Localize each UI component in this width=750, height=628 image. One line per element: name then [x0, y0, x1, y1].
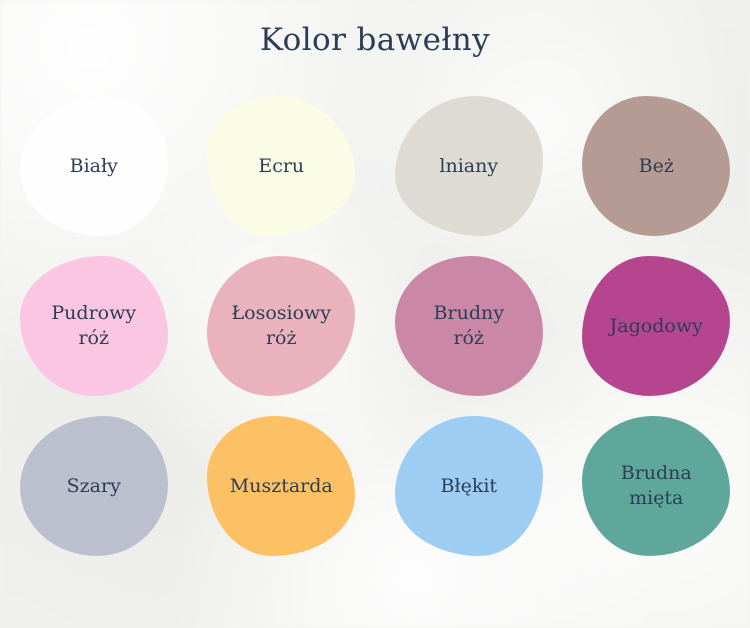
color-blob: Musztarda: [207, 416, 355, 556]
swatch-lososiowy-roz[interactable]: Łososiowy róż: [188, 246, 376, 406]
swatch-label: Musztarda: [224, 474, 339, 499]
color-blob: Beż: [582, 96, 730, 236]
color-blob: Biały: [20, 96, 168, 236]
swatch-label: Brudny róż: [428, 301, 510, 350]
swatch-label: Pudrowy róż: [45, 301, 142, 350]
page-title: Kolor bawełny: [0, 22, 750, 58]
color-blob: Brudna mięta: [582, 416, 730, 556]
swatch-lniany[interactable]: lniany: [375, 86, 563, 246]
color-blob: Łososiowy róż: [207, 256, 355, 396]
color-blob: Szary: [20, 416, 168, 556]
color-blob: Brudny róż: [395, 256, 543, 396]
swatch-bialy[interactable]: Biały: [0, 86, 188, 246]
swatch-label: Łososiowy róż: [225, 301, 337, 350]
swatch-brudny-roz[interactable]: Brudny róż: [375, 246, 563, 406]
swatch-label: lniany: [433, 154, 504, 179]
swatch-label: Beż: [633, 154, 680, 179]
swatch-pudrowy-roz[interactable]: Pudrowy róż: [0, 246, 188, 406]
color-blob: lniany: [395, 96, 543, 236]
swatch-label: Błękit: [434, 474, 503, 499]
color-blob: Błękit: [395, 416, 543, 556]
swatch-label: Jagodowy: [604, 314, 709, 339]
swatch-brudna-mieta[interactable]: Brudna mięta: [563, 406, 750, 566]
swatch-blekit[interactable]: Błękit: [375, 406, 563, 566]
swatch-label: Ecru: [252, 154, 310, 179]
color-blob: Jagodowy: [582, 256, 730, 396]
swatch-szary[interactable]: Szary: [0, 406, 188, 566]
swatch-label: Brudna mięta: [615, 461, 698, 510]
color-blob: Ecru: [207, 96, 355, 236]
swatch-ecru[interactable]: Ecru: [188, 86, 376, 246]
swatch-label: Szary: [61, 474, 127, 499]
swatch-musztarda[interactable]: Musztarda: [188, 406, 376, 566]
color-palette-page: Kolor bawełny Biały Ecru lniany Beż Pudr…: [0, 0, 750, 628]
swatch-grid: Biały Ecru lniany Beż Pudrowy róż Ł: [0, 86, 750, 566]
swatch-bez[interactable]: Beż: [563, 86, 750, 246]
swatch-label: Biały: [64, 154, 124, 179]
swatch-jagodowy[interactable]: Jagodowy: [563, 246, 750, 406]
color-blob: Pudrowy róż: [20, 256, 168, 396]
